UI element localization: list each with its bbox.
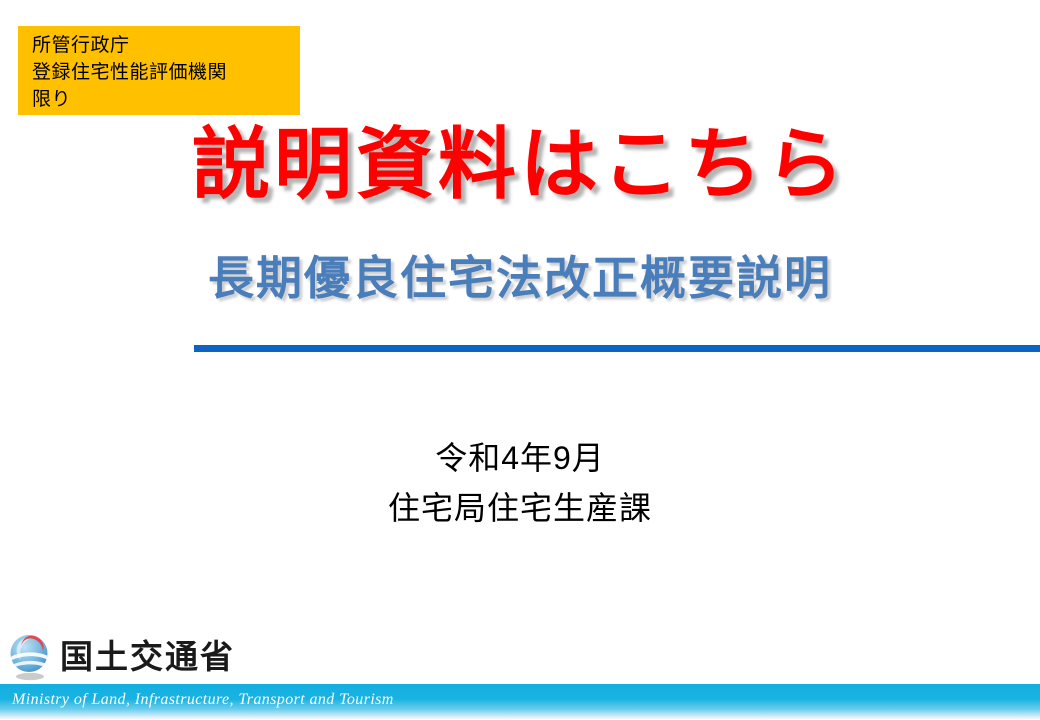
restriction-badge-line-1: 所管行政庁 bbox=[32, 32, 300, 59]
presentation-slide: 所管行政庁 登録住宅性能評価機関 限り 説明資料はこちら 長期優良住宅法改正概要… bbox=[0, 0, 1040, 720]
slide-headline: 説明資料はこちら bbox=[0, 118, 1040, 210]
slide-date: 令和4年9月 bbox=[0, 433, 1040, 483]
restriction-badge-line-3: 限り bbox=[32, 86, 300, 113]
mlit-globe-icon bbox=[8, 632, 52, 682]
mlit-logo-lockup: 国土交通省 bbox=[8, 632, 235, 682]
slide-department: 住宅局住宅生産課 bbox=[0, 483, 1040, 533]
slide-meta-block: 令和4年9月 住宅局住宅生産課 bbox=[0, 433, 1040, 533]
restriction-badge: 所管行政庁 登録住宅性能評価機関 限り bbox=[18, 26, 300, 115]
mlit-logo-label-jp: 国土交通省 bbox=[60, 637, 235, 677]
slide-subtitle: 長期優良住宅法改正概要説明 bbox=[0, 249, 1040, 307]
divider-rule bbox=[194, 345, 1040, 352]
mlit-logo-label-en: Ministry of Land, Infrastructure, Transp… bbox=[12, 690, 394, 710]
restriction-badge-line-2: 登録住宅性能評価機関 bbox=[32, 59, 300, 86]
